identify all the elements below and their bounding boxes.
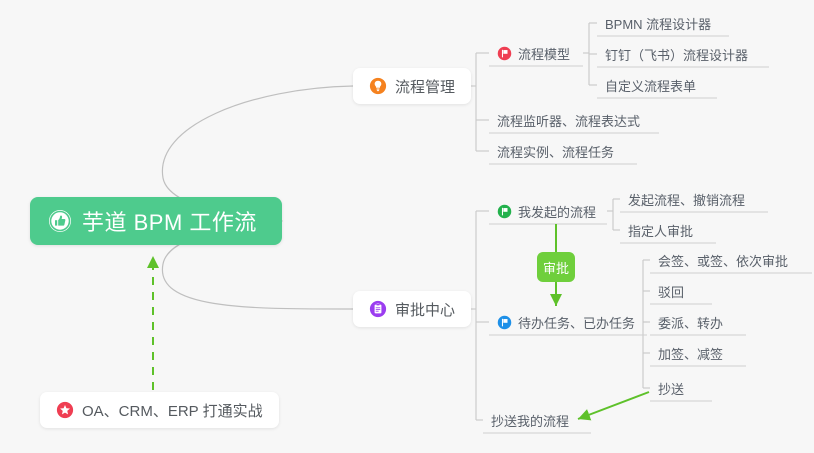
flag-icon [497,315,512,330]
node-carbon-copy-label: 抄送 [658,379,684,398]
node-custom-form-label: 自定义流程表单 [605,76,696,95]
node-start-cancel-process[interactable]: 发起流程、撤销流程 [620,186,751,212]
node-cc-my-process[interactable]: 抄送我的流程 [483,407,575,433]
node-bpmn-designer[interactable]: BPMN 流程设计器 [597,10,717,36]
approval-tag-label: 审批 [543,258,569,277]
node-add-remove-sign-label: 加签、减签 [658,344,723,363]
node-start-cancel-process-label: 发起流程、撤销流程 [628,190,745,209]
lightbulb-icon [369,77,387,95]
node-dingtalk-designer-label: 钉钉（飞书）流程设计器 [605,45,748,64]
node-todo-done-tasks[interactable]: 待办任务、已办任务 [489,309,641,335]
clipboard-icon [369,300,387,318]
carbon-copy-arrow [578,392,649,419]
thumbs-up-icon [48,209,72,233]
node-countersign-label: 会签、或签、依次审批 [658,251,788,270]
node-add-remove-sign[interactable]: 加签、减签 [650,340,729,366]
node-process-instance-label: 流程实例、流程任务 [497,142,614,161]
mindmap-canvas: 芋道 BPM 工作流 流程管理 流程模型 BPMN 流程设计器 钉钉（飞书）流程 [0,0,814,453]
root-node[interactable]: 芋道 BPM 工作流 [30,197,282,245]
node-todo-done-tasks-label: 待办任务、已办任务 [518,313,635,332]
root-node-label: 芋道 BPM 工作流 [82,205,257,237]
branch-approval-center[interactable]: 审批中心 [353,291,471,327]
node-dingtalk-designer[interactable]: 钉钉（飞书）流程设计器 [597,41,754,67]
node-my-started-process[interactable]: 我发起的流程 [489,198,602,224]
node-process-model[interactable]: 流程模型 [489,40,576,66]
node-cc-my-process-label: 抄送我的流程 [491,411,569,430]
node-my-started-process-label: 我发起的流程 [518,202,596,221]
branch-approval-center-label: 审批中心 [395,299,455,320]
node-process-model-label: 流程模型 [518,44,570,63]
node-process-listener-label: 流程监听器、流程表达式 [497,111,640,130]
node-process-listener[interactable]: 流程监听器、流程表达式 [489,107,646,133]
approval-tag[interactable]: 审批 [537,252,575,282]
node-reject[interactable]: 驳回 [650,278,690,304]
branch-process-management-label: 流程管理 [395,76,455,97]
integration-note[interactable]: OA、CRM、ERP 打通实战 [40,392,279,428]
node-carbon-copy[interactable]: 抄送 [650,375,690,401]
flag-icon [497,46,512,61]
integration-note-label: OA、CRM、ERP 打通实战 [82,400,263,421]
node-assignee-approval[interactable]: 指定人审批 [620,217,699,243]
node-bpmn-designer-label: BPMN 流程设计器 [605,14,711,33]
node-reject-label: 驳回 [658,282,684,301]
star-icon [56,401,74,419]
flag-icon [497,204,512,219]
node-process-instance[interactable]: 流程实例、流程任务 [489,138,620,164]
node-delegate-transfer[interactable]: 委派、转办 [650,309,729,335]
node-assignee-approval-label: 指定人审批 [628,221,693,240]
node-countersign[interactable]: 会签、或签、依次审批 [650,247,794,273]
node-delegate-transfer-label: 委派、转办 [658,313,723,332]
node-custom-form[interactable]: 自定义流程表单 [597,72,702,98]
branch-process-management[interactable]: 流程管理 [353,68,471,104]
